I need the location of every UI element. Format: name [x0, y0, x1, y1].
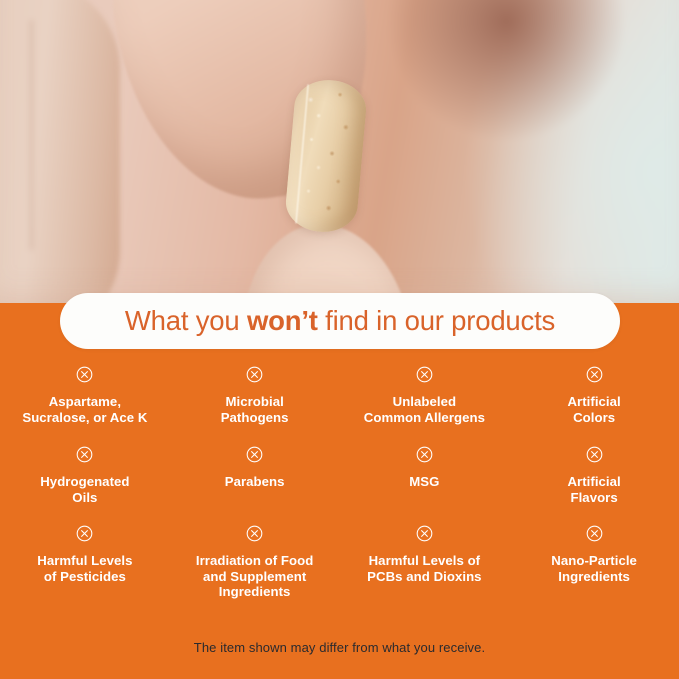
- claim-label: Parabens: [225, 474, 285, 490]
- claim-label: Aspartame, Sucralose, or Ace K: [22, 394, 147, 425]
- headline-part-before: What you: [125, 305, 247, 336]
- headline-text: What you won’t find in our products: [125, 305, 555, 337]
- headline-part-after: find in our products: [318, 305, 555, 336]
- background-finger: [0, 0, 120, 304]
- claim-label: Hydrogenated Oils: [40, 474, 129, 505]
- claim-item: Aspartame, Sucralose, or Ace K: [0, 366, 170, 446]
- footer: The item shown may differ from what you …: [0, 639, 679, 657]
- claim-item: Artificial Flavors: [509, 446, 679, 525]
- claim-item: Irradiation of Food and Supplement Ingre…: [170, 525, 340, 615]
- claim-label: Unlabeled Common Allergens: [364, 394, 485, 425]
- claim-item: Parabens: [170, 446, 340, 525]
- disclaimer-text: The item shown may differ from what you …: [194, 640, 485, 655]
- claim-item: MSG: [340, 446, 510, 525]
- claim-label: Microbial Pathogens: [221, 394, 289, 425]
- claim-label: Harmful Levels of Pesticides: [37, 553, 132, 584]
- circle-x-icon: [246, 366, 263, 383]
- headline-banner: What you won’t find in our products: [60, 293, 620, 349]
- circle-x-icon: [76, 366, 93, 383]
- circle-x-icon: [586, 446, 603, 463]
- claim-label: Irradiation of Food and Supplement Ingre…: [196, 553, 313, 600]
- claim-item: Artificial Colors: [509, 366, 679, 446]
- circle-x-icon: [416, 446, 433, 463]
- claim-item: Microbial Pathogens: [170, 366, 340, 446]
- circle-x-icon: [416, 525, 433, 542]
- claims-grid-row-2: Hydrogenated Oils Parabens MSG Artificia…: [0, 446, 679, 525]
- claim-label: Artificial Flavors: [567, 474, 620, 505]
- circle-x-icon: [416, 366, 433, 383]
- headline-emphasis: won’t: [247, 305, 318, 336]
- claim-label: Harmful Levels of PCBs and Dioxins: [367, 553, 481, 584]
- circle-x-icon: [76, 446, 93, 463]
- product-claims-infographic: What you won’t find in our products Aspa…: [0, 0, 679, 679]
- claim-item: Hydrogenated Oils: [0, 446, 170, 525]
- claims-grid-row-1: Aspartame, Sucralose, or Ace K Microbial…: [0, 366, 679, 446]
- claim-item: Harmful Levels of Pesticides: [0, 525, 170, 615]
- supplement-tablet: [284, 77, 369, 235]
- circle-x-icon: [246, 525, 263, 542]
- claim-label: MSG: [409, 474, 439, 490]
- claim-label: Artificial Colors: [567, 394, 620, 425]
- claim-item: Unlabeled Common Allergens: [340, 366, 510, 446]
- claim-item: Nano-Particle Ingredients: [509, 525, 679, 615]
- circle-x-icon: [586, 525, 603, 542]
- circle-x-icon: [246, 446, 263, 463]
- hero-photo: [0, 0, 679, 304]
- claim-label: Nano-Particle Ingredients: [551, 553, 637, 584]
- claims-grid-row-3: Harmful Levels of Pesticides Irradiation…: [0, 525, 679, 615]
- circle-x-icon: [76, 525, 93, 542]
- claim-item: Harmful Levels of PCBs and Dioxins: [340, 525, 510, 615]
- circle-x-icon: [586, 366, 603, 383]
